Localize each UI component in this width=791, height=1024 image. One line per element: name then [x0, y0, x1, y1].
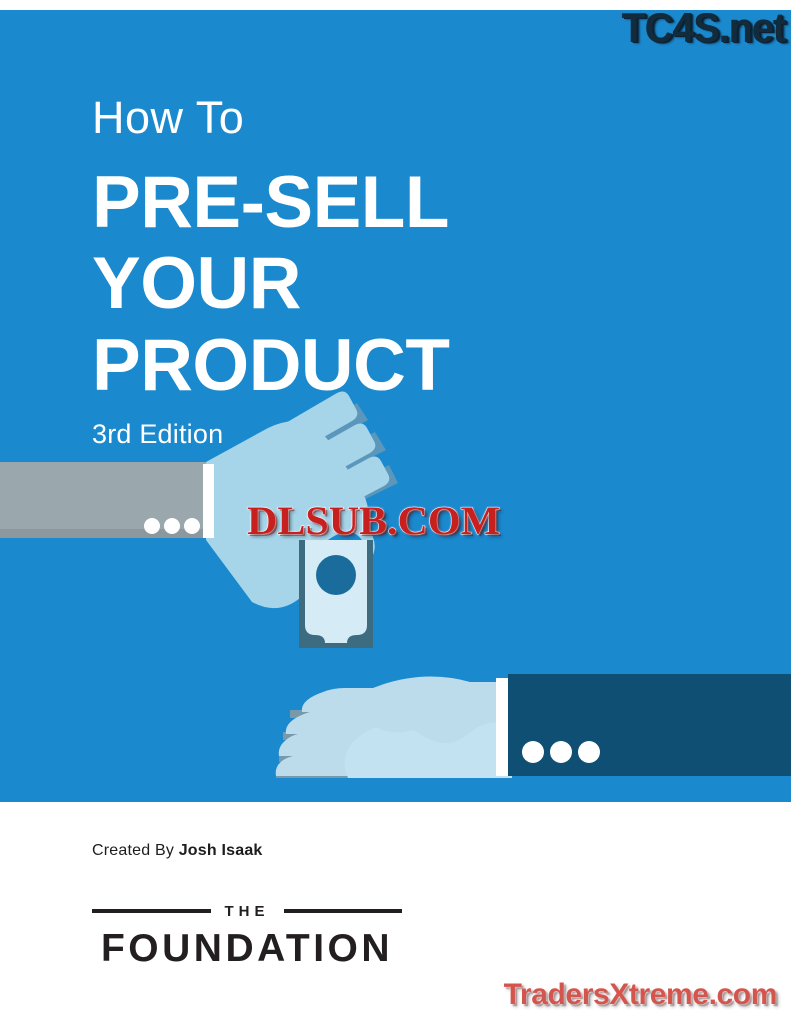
lower-hand-palm	[346, 677, 512, 776]
logo-name: FOUNDATION	[92, 929, 402, 968]
lower-finger-4	[276, 754, 500, 776]
lower-hand-upper-contour	[365, 679, 512, 733]
lower-finger-3	[279, 732, 500, 756]
upper-sleeve-buttons	[144, 518, 200, 534]
lower-sleeve-buttons	[522, 741, 600, 763]
watermark-dlsub: DLSUB.COM	[247, 497, 500, 544]
lower-finger-1	[302, 688, 500, 712]
lower-hand-palm-highlight	[345, 722, 512, 778]
banknote	[299, 540, 373, 648]
banknote-frame	[299, 540, 373, 648]
lower-cuff	[496, 678, 510, 776]
cover-footer: Created By Josh Isaak THE FOUNDATION Tra…	[0, 802, 791, 1024]
upper-sleeve-shadow	[0, 529, 206, 538]
credit-prefix: Created By	[92, 842, 179, 859]
logo-top-row: THE	[92, 902, 402, 920]
credit-line: Created By Josh Isaak	[92, 842, 263, 860]
title-kicker: How To	[92, 94, 732, 142]
title-line-3: PRODUCT	[92, 325, 732, 407]
upper-sleeve	[0, 462, 206, 532]
foundation-logo: THE FOUNDATION	[92, 902, 402, 968]
cover-blue-panel: How To PRE-SELL YOUR PRODUCT 3rd Edition…	[0, 10, 791, 802]
watermark-tc4s: TC4S.net	[621, 4, 785, 52]
title-line-1: PRE-SELL	[92, 162, 732, 244]
lower-finger-2	[286, 710, 500, 734]
lower-hand-fingers	[276, 710, 470, 778]
watermark-tradersxtreme: TradersXtreme.com	[504, 978, 777, 1012]
title-main: PRE-SELL YOUR PRODUCT	[92, 162, 732, 407]
banknote-paper	[305, 540, 367, 643]
title-edition: 3rd Edition	[92, 419, 732, 450]
lower-sleeve	[508, 674, 791, 776]
upper-cuff	[203, 464, 214, 538]
logo-rule-right	[284, 909, 403, 913]
book-cover: How To PRE-SELL YOUR PRODUCT 3rd Edition…	[0, 0, 791, 1024]
logo-rule-left	[92, 909, 211, 913]
credit-author: Josh Isaak	[179, 842, 263, 859]
logo-the-word: THE	[224, 904, 271, 919]
title-block: How To PRE-SELL YOUR PRODUCT 3rd Edition	[92, 94, 732, 450]
banknote-medallion	[316, 555, 356, 595]
title-line-2: YOUR	[92, 243, 732, 325]
